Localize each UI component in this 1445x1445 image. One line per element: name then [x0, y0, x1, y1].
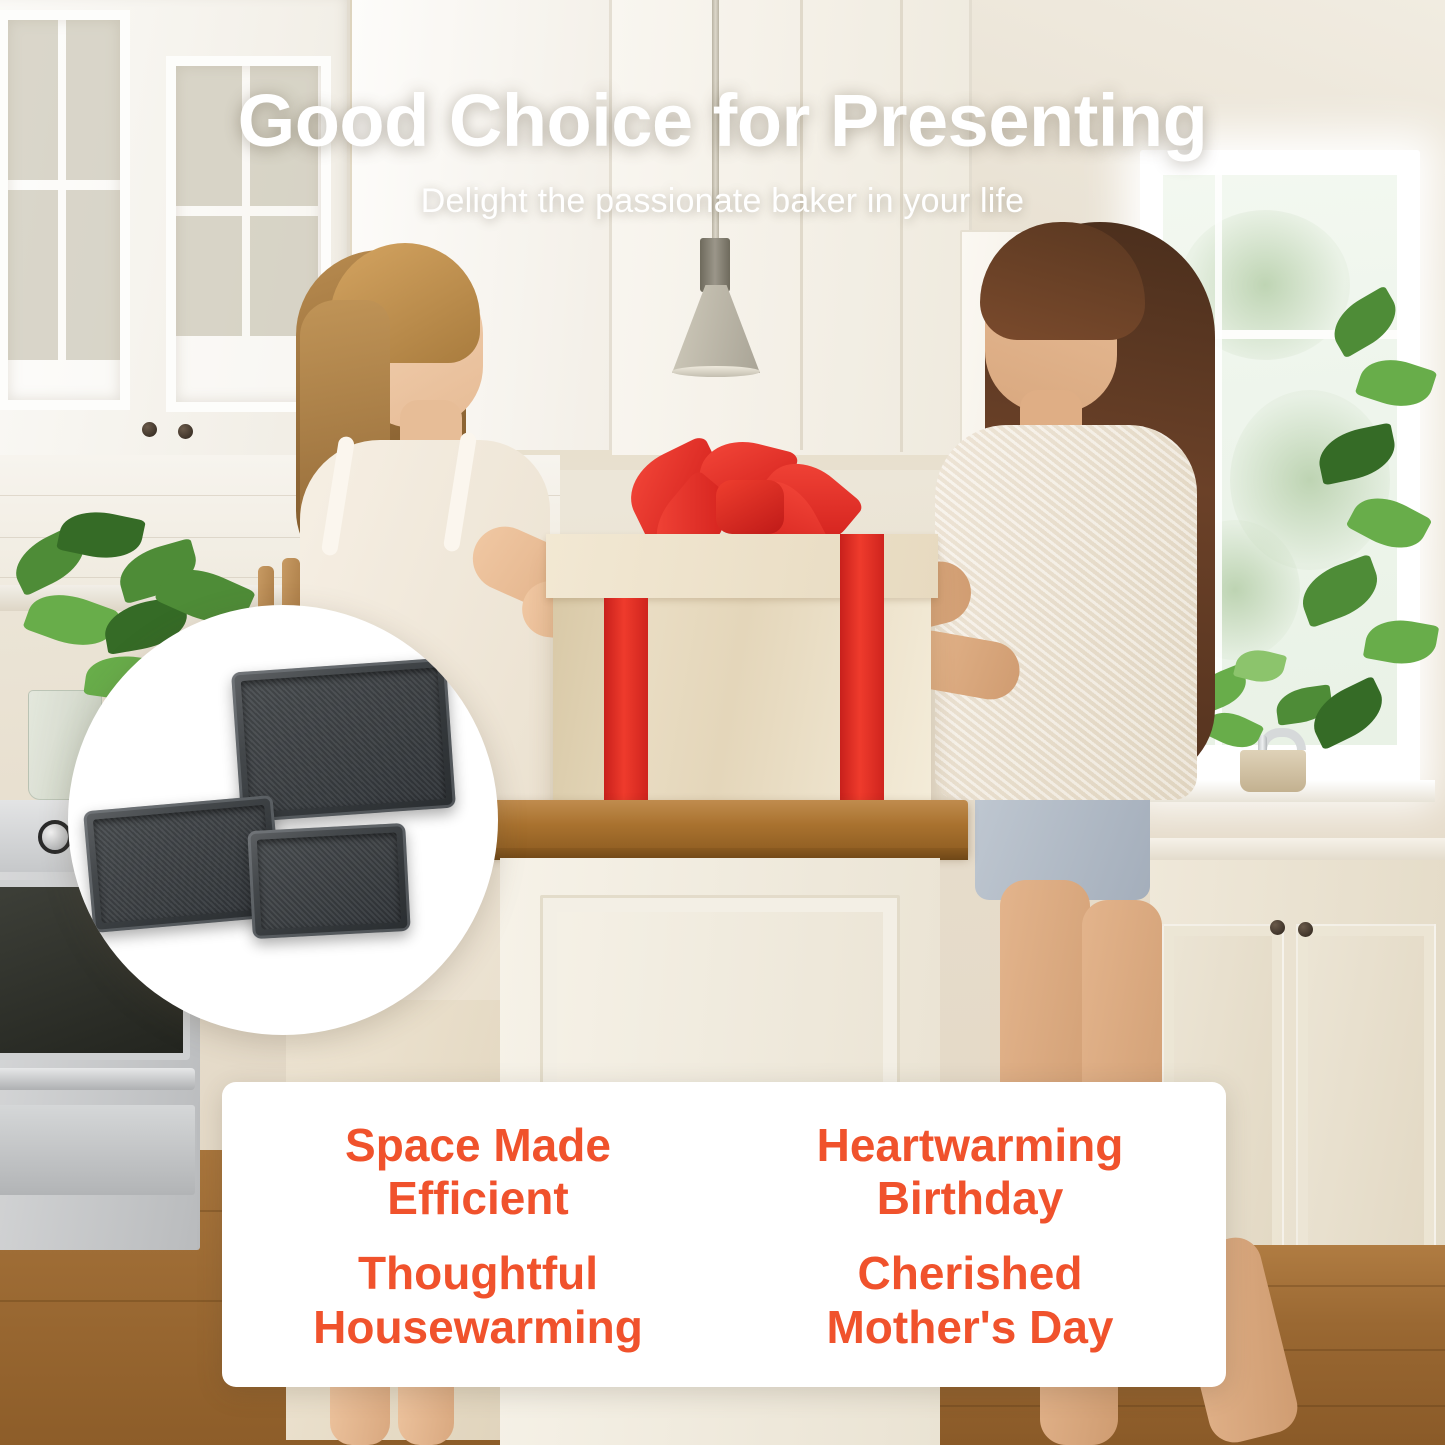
cabinet-door	[1296, 924, 1436, 1264]
baking-sheet-small	[247, 823, 410, 939]
feature-item-space-made-efficient: Space Made Efficient	[345, 1119, 611, 1226]
feature-card: Space Made Efficient Heartwarming Birthd…	[222, 1082, 1226, 1387]
glass-pane	[176, 216, 242, 336]
island-countertop	[468, 800, 968, 855]
cabinet-knob	[142, 422, 157, 437]
page-title: Good Choice for Presenting	[0, 78, 1445, 163]
cabinet-knob	[1270, 920, 1285, 935]
pendant-lamp-socket	[700, 238, 730, 292]
plant-pot	[1240, 750, 1306, 792]
oven-handle	[0, 1068, 195, 1090]
pendant-lamp-rim	[672, 366, 760, 377]
feature-item-cherished-mothers-day: Cherished Mother's Day	[826, 1247, 1113, 1354]
ribbon-vertical	[840, 534, 884, 824]
marketing-banner: Good Choice for Presenting Delight the p…	[0, 0, 1445, 1445]
knit-sweater	[935, 425, 1197, 800]
feature-item-heartwarming-birthday: Heartwarming Birthday	[817, 1119, 1124, 1226]
product-badge	[68, 605, 498, 1035]
ribbon-vertical	[604, 598, 648, 824]
cabinet-knob	[178, 424, 193, 439]
pan-rim	[247, 823, 410, 939]
bow-knot	[716, 480, 784, 534]
cabinet-seam	[900, 0, 903, 452]
oven-drawer	[0, 1105, 195, 1195]
feature-item-thoughtful-housewarming: Thoughtful Housewarming	[313, 1247, 643, 1354]
upper-cabinet-right	[612, 0, 972, 455]
cabinet-knob	[1298, 922, 1313, 937]
window-mullion	[1215, 175, 1222, 745]
oven-dial	[38, 820, 72, 854]
cabinet-seam	[800, 0, 803, 450]
page-subtitle: Delight the passionate baker in your lif…	[0, 182, 1445, 221]
